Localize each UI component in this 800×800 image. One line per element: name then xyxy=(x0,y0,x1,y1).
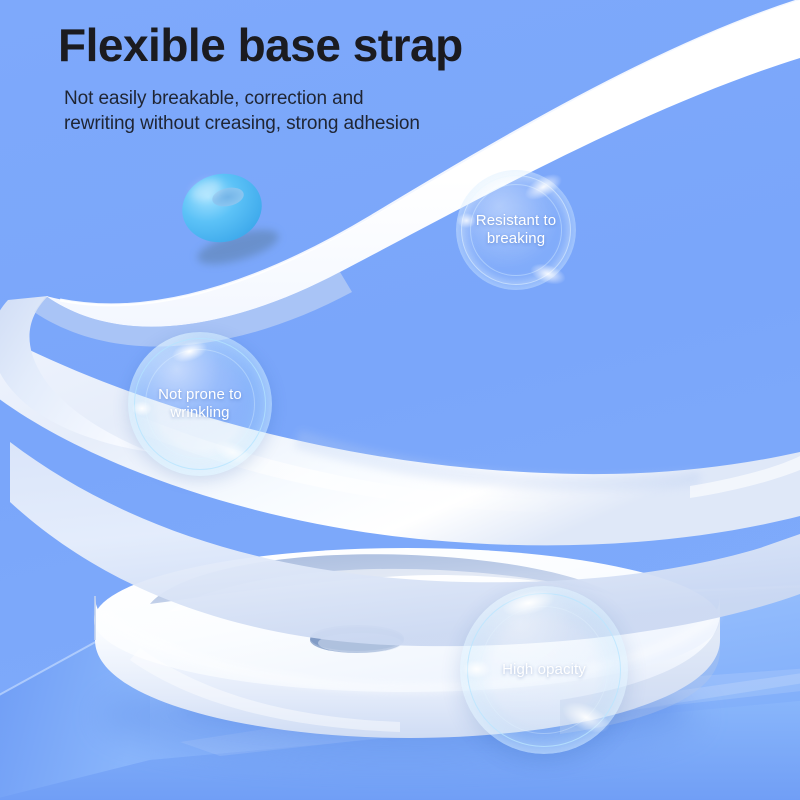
page-title: Flexible base strap xyxy=(58,20,698,72)
bubble-highlight-left-icon xyxy=(463,660,490,678)
page-subtitle: Not easily breakable, correction and rew… xyxy=(64,86,484,138)
product-feature-image: Flexible base strap Not easily breakable… xyxy=(0,0,800,800)
feature-bubble-resistant-to-breaking[interactable]: Resistant to breaking xyxy=(456,170,576,290)
bubble-label-line-2: breaking xyxy=(487,230,545,247)
bubble-highlight-icon xyxy=(169,337,210,366)
feature-bubble-label: Resistant to breaking xyxy=(466,212,566,247)
bubble-label-line-1: Not prone to xyxy=(158,386,242,403)
bubble-label-line-1: Resistant to xyxy=(476,212,556,229)
feature-bubble-label: Not prone to wrinkling xyxy=(148,386,252,421)
feature-bubble-label: High opacity xyxy=(492,661,596,679)
page-subtitle-line-1: Not easily breakable, correction and xyxy=(64,88,364,109)
header-text-block: Flexible base strap Not easily breakable… xyxy=(58,20,698,137)
bubble-label-line-2: wrinkling xyxy=(170,404,229,421)
feature-bubble-high-opacity[interactable]: High opacity xyxy=(460,586,628,754)
feature-bubble-not-prone-to-wrinkling[interactable]: Not prone to wrinkling xyxy=(128,332,272,476)
page-subtitle-line-2: rewriting without creasing, strong adhes… xyxy=(64,113,420,134)
